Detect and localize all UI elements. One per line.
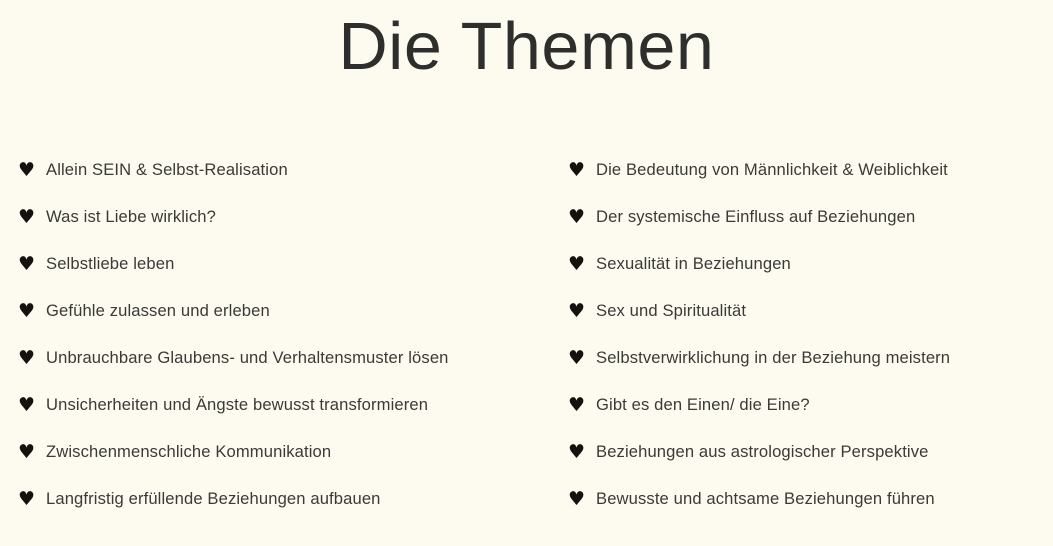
- list-item[interactable]: ♥ Der systemische Einfluss auf Beziehung…: [568, 207, 1053, 254]
- heart-icon: ♥: [568, 349, 596, 368]
- topic-label: Allein SEIN & Selbst-Realisation: [46, 162, 288, 179]
- list-item[interactable]: ♥ Unbrauchbare Glaubens- und Verhaltensm…: [18, 348, 565, 395]
- topic-list-right: ♥ Die Bedeutung von Männlichkeit & Weibl…: [568, 160, 1053, 536]
- heart-icon: ♥: [568, 161, 596, 180]
- topic-label: Selbstliebe leben: [46, 256, 174, 273]
- topic-label: Unbrauchbare Glaubens- und Verhaltensmus…: [46, 350, 449, 367]
- heart-icon: ♥: [568, 255, 596, 274]
- heart-icon: ♥: [18, 443, 46, 462]
- themen-page: Die Themen ♥ Allein SEIN & Selbst-Realis…: [0, 0, 1053, 546]
- heart-icon: ♥: [568, 208, 596, 227]
- list-item[interactable]: ♥ Langfristig erfüllende Beziehungen auf…: [18, 489, 565, 536]
- heart-icon: ♥: [18, 349, 46, 368]
- heart-icon: ♥: [568, 443, 596, 462]
- list-item[interactable]: ♥ Selbstverwirklichung in der Beziehung …: [568, 348, 1053, 395]
- list-item[interactable]: ♥ Was ist Liebe wirklich?: [18, 207, 565, 254]
- topic-label: Die Bedeutung von Männlichkeit & Weiblic…: [596, 162, 948, 179]
- list-item[interactable]: ♥ Unsicherheiten und Ängste bewusst tran…: [18, 395, 565, 442]
- heart-icon: ♥: [18, 161, 46, 180]
- topics-column-right: ♥ Die Bedeutung von Männlichkeit & Weibl…: [565, 160, 1053, 536]
- topic-label: Unsicherheiten und Ängste bewusst transf…: [46, 397, 428, 414]
- topic-list-left: ♥ Allein SEIN & Selbst-Realisation ♥ Was…: [18, 160, 565, 536]
- list-item[interactable]: ♥ Sex und Spiritualität: [568, 301, 1053, 348]
- heart-icon: ♥: [568, 396, 596, 415]
- heart-icon: ♥: [18, 396, 46, 415]
- heart-icon: ♥: [18, 490, 46, 509]
- heart-icon: ♥: [18, 302, 46, 321]
- topic-label: Zwischenmenschliche Kommunikation: [46, 444, 331, 461]
- topic-label: Gibt es den Einen/ die Eine?: [596, 397, 810, 414]
- topic-label: Selbstverwirklichung in der Beziehung me…: [596, 350, 950, 367]
- page-header: Die Themen: [0, 0, 1053, 92]
- list-item[interactable]: ♥ Selbstliebe leben: [18, 254, 565, 301]
- list-item[interactable]: ♥ Allein SEIN & Selbst-Realisation: [18, 160, 565, 207]
- list-item[interactable]: ♥ Bewusste und achtsame Beziehungen führ…: [568, 489, 1053, 536]
- list-item[interactable]: ♥ Zwischenmenschliche Kommunikation: [18, 442, 565, 489]
- topic-label: Bewusste und achtsame Beziehungen führen: [596, 491, 935, 508]
- heart-icon: ♥: [568, 490, 596, 509]
- topics-columns: ♥ Allein SEIN & Selbst-Realisation ♥ Was…: [0, 160, 1053, 536]
- list-item[interactable]: ♥ Beziehungen aus astrologischer Perspek…: [568, 442, 1053, 489]
- topic-label: Sexualität in Beziehungen: [596, 256, 791, 273]
- list-item[interactable]: ♥ Die Bedeutung von Männlichkeit & Weibl…: [568, 160, 1053, 207]
- page-title: Die Themen: [338, 13, 714, 80]
- topic-label: Was ist Liebe wirklich?: [46, 209, 216, 226]
- topic-label: Sex und Spiritualität: [596, 303, 746, 320]
- topic-label: Beziehungen aus astrologischer Perspekti…: [596, 444, 929, 461]
- topic-label: Der systemische Einfluss auf Beziehungen: [596, 209, 915, 226]
- heart-icon: ♥: [18, 208, 46, 227]
- topic-label: Gefühle zulassen und erleben: [46, 303, 270, 320]
- heart-icon: ♥: [18, 255, 46, 274]
- heart-icon: ♥: [568, 302, 596, 321]
- list-item[interactable]: ♥ Sexualität in Beziehungen: [568, 254, 1053, 301]
- list-item[interactable]: ♥ Gibt es den Einen/ die Eine?: [568, 395, 1053, 442]
- list-item[interactable]: ♥ Gefühle zulassen und erleben: [18, 301, 565, 348]
- topic-label: Langfristig erfüllende Beziehungen aufba…: [46, 491, 381, 508]
- topics-column-left: ♥ Allein SEIN & Selbst-Realisation ♥ Was…: [0, 160, 565, 536]
